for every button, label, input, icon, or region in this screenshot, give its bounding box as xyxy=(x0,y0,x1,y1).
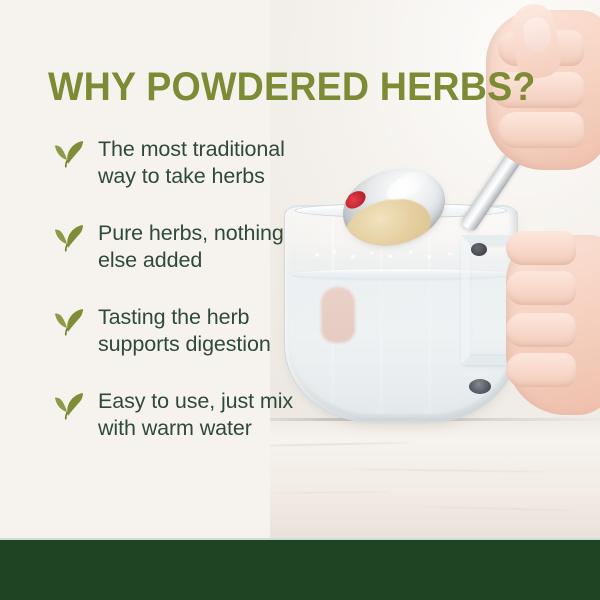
handle-highlight xyxy=(471,243,487,256)
list-item: Pure herbs, nothing else added xyxy=(52,220,320,274)
list-item: Easy to use, just mix with warm water xyxy=(52,388,320,442)
water-bubbles xyxy=(307,247,477,263)
leaf-sprig-icon xyxy=(52,222,86,252)
finger-through-glass xyxy=(321,287,355,343)
marble-vein xyxy=(270,491,390,493)
leaf-sprig-icon xyxy=(52,390,86,420)
page-title: WHY POWDERED HERBS? xyxy=(48,66,536,108)
finger xyxy=(506,313,576,347)
list-item-label: Tasting the herb supports digestion xyxy=(98,304,320,358)
hand-holding-mug xyxy=(494,215,600,430)
finger xyxy=(506,271,576,305)
finger xyxy=(506,353,576,387)
finger xyxy=(498,112,584,148)
leaf-sprig-icon xyxy=(52,306,86,336)
poster-root: WHY POWDERED HERBS? The most traditional… xyxy=(0,0,600,600)
leaf-sprig-icon xyxy=(52,138,86,168)
marble-vein xyxy=(420,506,570,511)
list-item-label: The most traditional way to take herbs xyxy=(98,136,320,190)
list-item: The most traditional way to take herbs xyxy=(52,136,320,190)
finger xyxy=(506,231,576,265)
list-item: Tasting the herb supports digestion xyxy=(52,304,320,358)
handle-highlight xyxy=(469,379,491,394)
list-item-label: Easy to use, just mix with warm water xyxy=(98,388,320,442)
list-item-label: Pure herbs, nothing else added xyxy=(98,220,320,274)
benefits-list: The most traditional way to take herbs P… xyxy=(52,136,320,472)
bottom-green-bar xyxy=(0,538,600,600)
marble-vein xyxy=(350,469,550,473)
